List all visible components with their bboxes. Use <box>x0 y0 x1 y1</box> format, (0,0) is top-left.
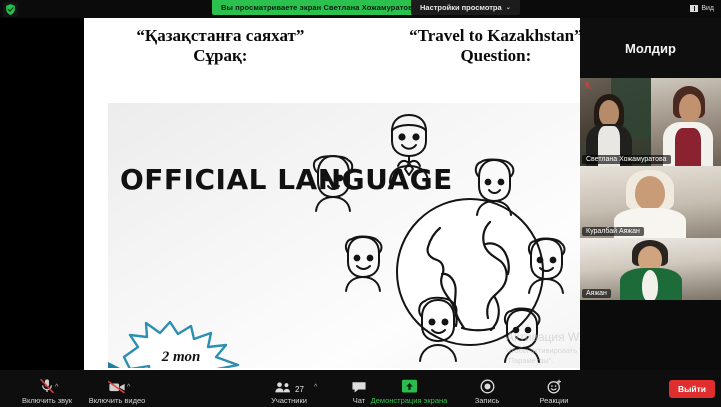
toolbar-label: Запись <box>475 396 500 405</box>
slide-title-kk: “Қазақстанға саяхат” <box>136 26 304 46</box>
slide-illustration: OFFICIAL LANGUAGE <box>108 103 580 368</box>
slide-subtitle-kk: Сұрақ: <box>136 46 304 66</box>
toolbar-label: Включить видео <box>89 396 146 405</box>
doodle-person-right <box>516 235 574 295</box>
toolbar-label: Реакции <box>540 396 569 405</box>
doodle-person-upper-right <box>464 155 522 217</box>
reactions-icon <box>547 377 562 394</box>
view-settings-label: Настройки просмотра <box>420 3 502 12</box>
record-icon <box>480 377 495 394</box>
participants-filmstrip[interactable]: Молдир <box>580 18 721 388</box>
heading-english: “Travel to Kazakhstan” Question: <box>409 26 580 66</box>
view-button-label: Вид <box>701 5 714 12</box>
slide-subtitle-en: Question: <box>409 46 580 66</box>
doodle-person-left <box>334 233 390 293</box>
video-tile-active-speaker[interactable]: Светлана Хожамуратова <box>580 78 721 166</box>
toolbar-start-video-button[interactable]: Включить видео <box>78 377 156 405</box>
screen-sharing-banner: Вы просматриваете экран Светлана Хожамур… <box>212 0 426 15</box>
toolbar-label: Участники <box>271 396 307 405</box>
doodle-person-top <box>380 111 438 185</box>
doodle-person-bottom <box>408 293 466 363</box>
zoom-meeting-window: Вы просматриваете экран Светлана Хожамур… <box>0 0 721 407</box>
toolbar-unmute-button[interactable]: Включить звук <box>8 377 86 405</box>
video-tile[interactable]: Куралбай Аяжан <box>580 166 721 238</box>
share-screen-icon <box>401 377 418 394</box>
security-shield-icon[interactable] <box>3 2 18 17</box>
leave-meeting-button[interactable]: Выйти <box>669 380 715 398</box>
sharing-banner-text: Вы просматриваете экран Светлана Хожамур… <box>221 3 417 12</box>
toolbar-label: Демонстрация экрана <box>371 396 448 405</box>
chevron-up-icon-audio[interactable]: ^ <box>55 384 58 391</box>
doodle-person-upper-left <box>304 151 360 213</box>
grid-icon <box>690 5 698 12</box>
participants-icon: 27 <box>274 377 304 394</box>
shared-screen-stage[interactable]: “Қазақстанға саяхат” Сұрақ: “Travel to K… <box>0 18 580 388</box>
top-bar: Вы просматриваете экран Светлана Хожамур… <box>0 0 721 18</box>
mic-muted-icon <box>583 81 592 90</box>
tile-display-name: Аяжан <box>582 289 611 298</box>
group-badge: 2 топ <box>116 321 246 368</box>
participants-count: 27 <box>295 385 304 394</box>
toolbar-share-screen-button[interactable]: Демонстрация экрана <box>370 377 448 405</box>
tile-display-name: Молдир <box>580 18 721 78</box>
view-button[interactable]: Вид <box>687 2 717 14</box>
slide-headings: “Қазақстанға саяхат” Сұрақ: “Travel to K… <box>84 26 580 66</box>
group-badge-label: 2 топ <box>116 321 246 368</box>
video-tile[interactable]: Аяжан <box>580 238 721 300</box>
tile-display-name: Светлана Хожамуратова <box>582 155 671 164</box>
tile-video-left <box>580 78 651 166</box>
chat-icon <box>351 377 367 394</box>
tile-display-name: Куралбай Аяжан <box>582 227 644 236</box>
chevron-up-icon-participants[interactable]: ^ <box>314 384 317 391</box>
video-muted-icon <box>108 377 126 394</box>
toolbar-label: Чат <box>353 396 365 405</box>
slide-title-en: “Travel to Kazakhstan” <box>409 26 580 46</box>
heading-kazakh: “Қазақстанға саяхат” Сұрақ: <box>136 26 304 66</box>
view-settings-button[interactable]: Настройки просмотра ⌄ <box>411 0 520 15</box>
chevron-up-icon-video[interactable]: ^ <box>127 384 130 391</box>
doodle-person-bottom-right <box>494 305 548 363</box>
toolbar-label: Включить звук <box>22 396 72 405</box>
toolbar-reactions-button[interactable]: Реакции <box>515 377 593 405</box>
video-tile[interactable]: Молдир <box>580 18 721 78</box>
chevron-down-icon: ⌄ <box>506 4 511 11</box>
presentation-slide: “Қазақстанға саяхат” Сұрақ: “Travel to K… <box>84 18 580 388</box>
mic-muted-icon <box>39 377 55 394</box>
toolbar-participants-button[interactable]: 27 Участники <box>250 377 328 405</box>
tile-video-right <box>651 78 721 166</box>
meeting-toolbar: Включить звук ^ Включить видео ^ <box>0 370 721 407</box>
